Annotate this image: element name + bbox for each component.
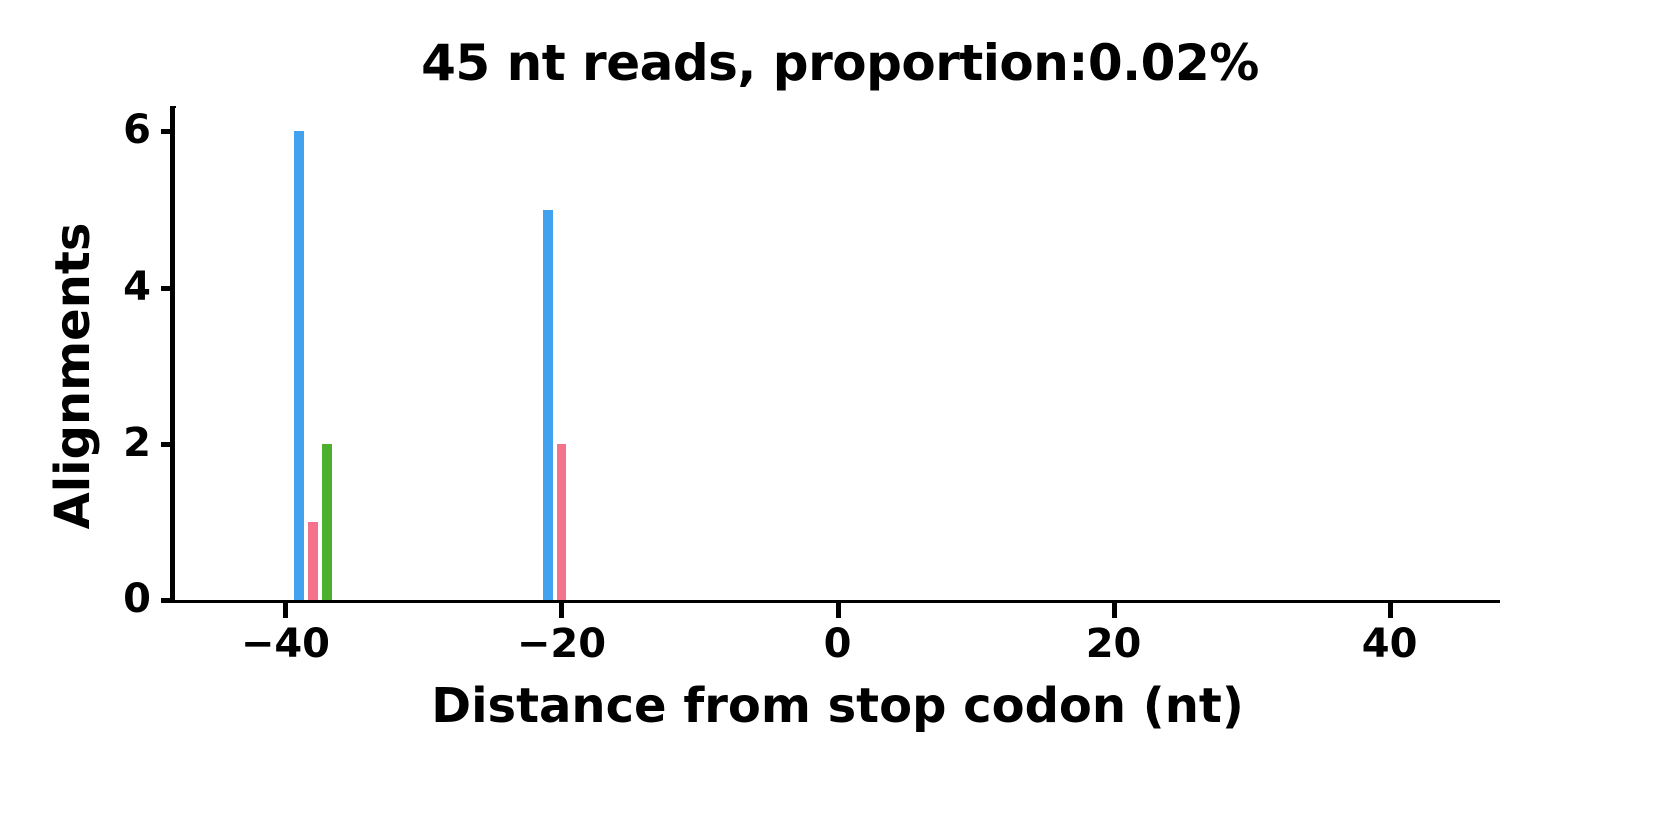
x-axis-title: Distance from stop codon (nt) [175,678,1500,734]
y-tick-label: 2 [91,423,151,463]
y-tick-label: 0 [91,579,151,619]
x-tick-label: 20 [1044,622,1184,666]
bar [557,444,567,600]
y-tick-mark [161,129,174,134]
chart-title: 45 nt reads, proportion:0.02% [0,34,1680,92]
x-tick-label: −20 [491,622,631,666]
x-tick-mark [283,603,288,618]
y-tick-mark [161,286,174,291]
bar [294,131,304,600]
x-tick-label: 40 [1320,622,1460,666]
x-tick-mark [1112,603,1117,618]
plot-area [175,108,1500,600]
x-tick-label: 0 [768,622,908,666]
bar [322,444,332,600]
x-tick-mark [836,603,841,618]
x-tick-label: −40 [215,622,355,666]
y-axis-title-container: Alignments [43,126,103,626]
y-tick-label: 6 [91,110,151,150]
bar [543,210,553,600]
x-tick-mark [559,603,564,618]
y-tick-mark [161,442,174,447]
chart-figure: 45 nt reads, proportion:0.02% Alignments… [0,0,1680,840]
y-tick-mark [161,598,174,603]
x-tick-mark [1388,603,1393,618]
y-axis-title: Alignments [43,126,103,626]
bar [308,522,318,600]
y-tick-label: 4 [91,267,151,307]
